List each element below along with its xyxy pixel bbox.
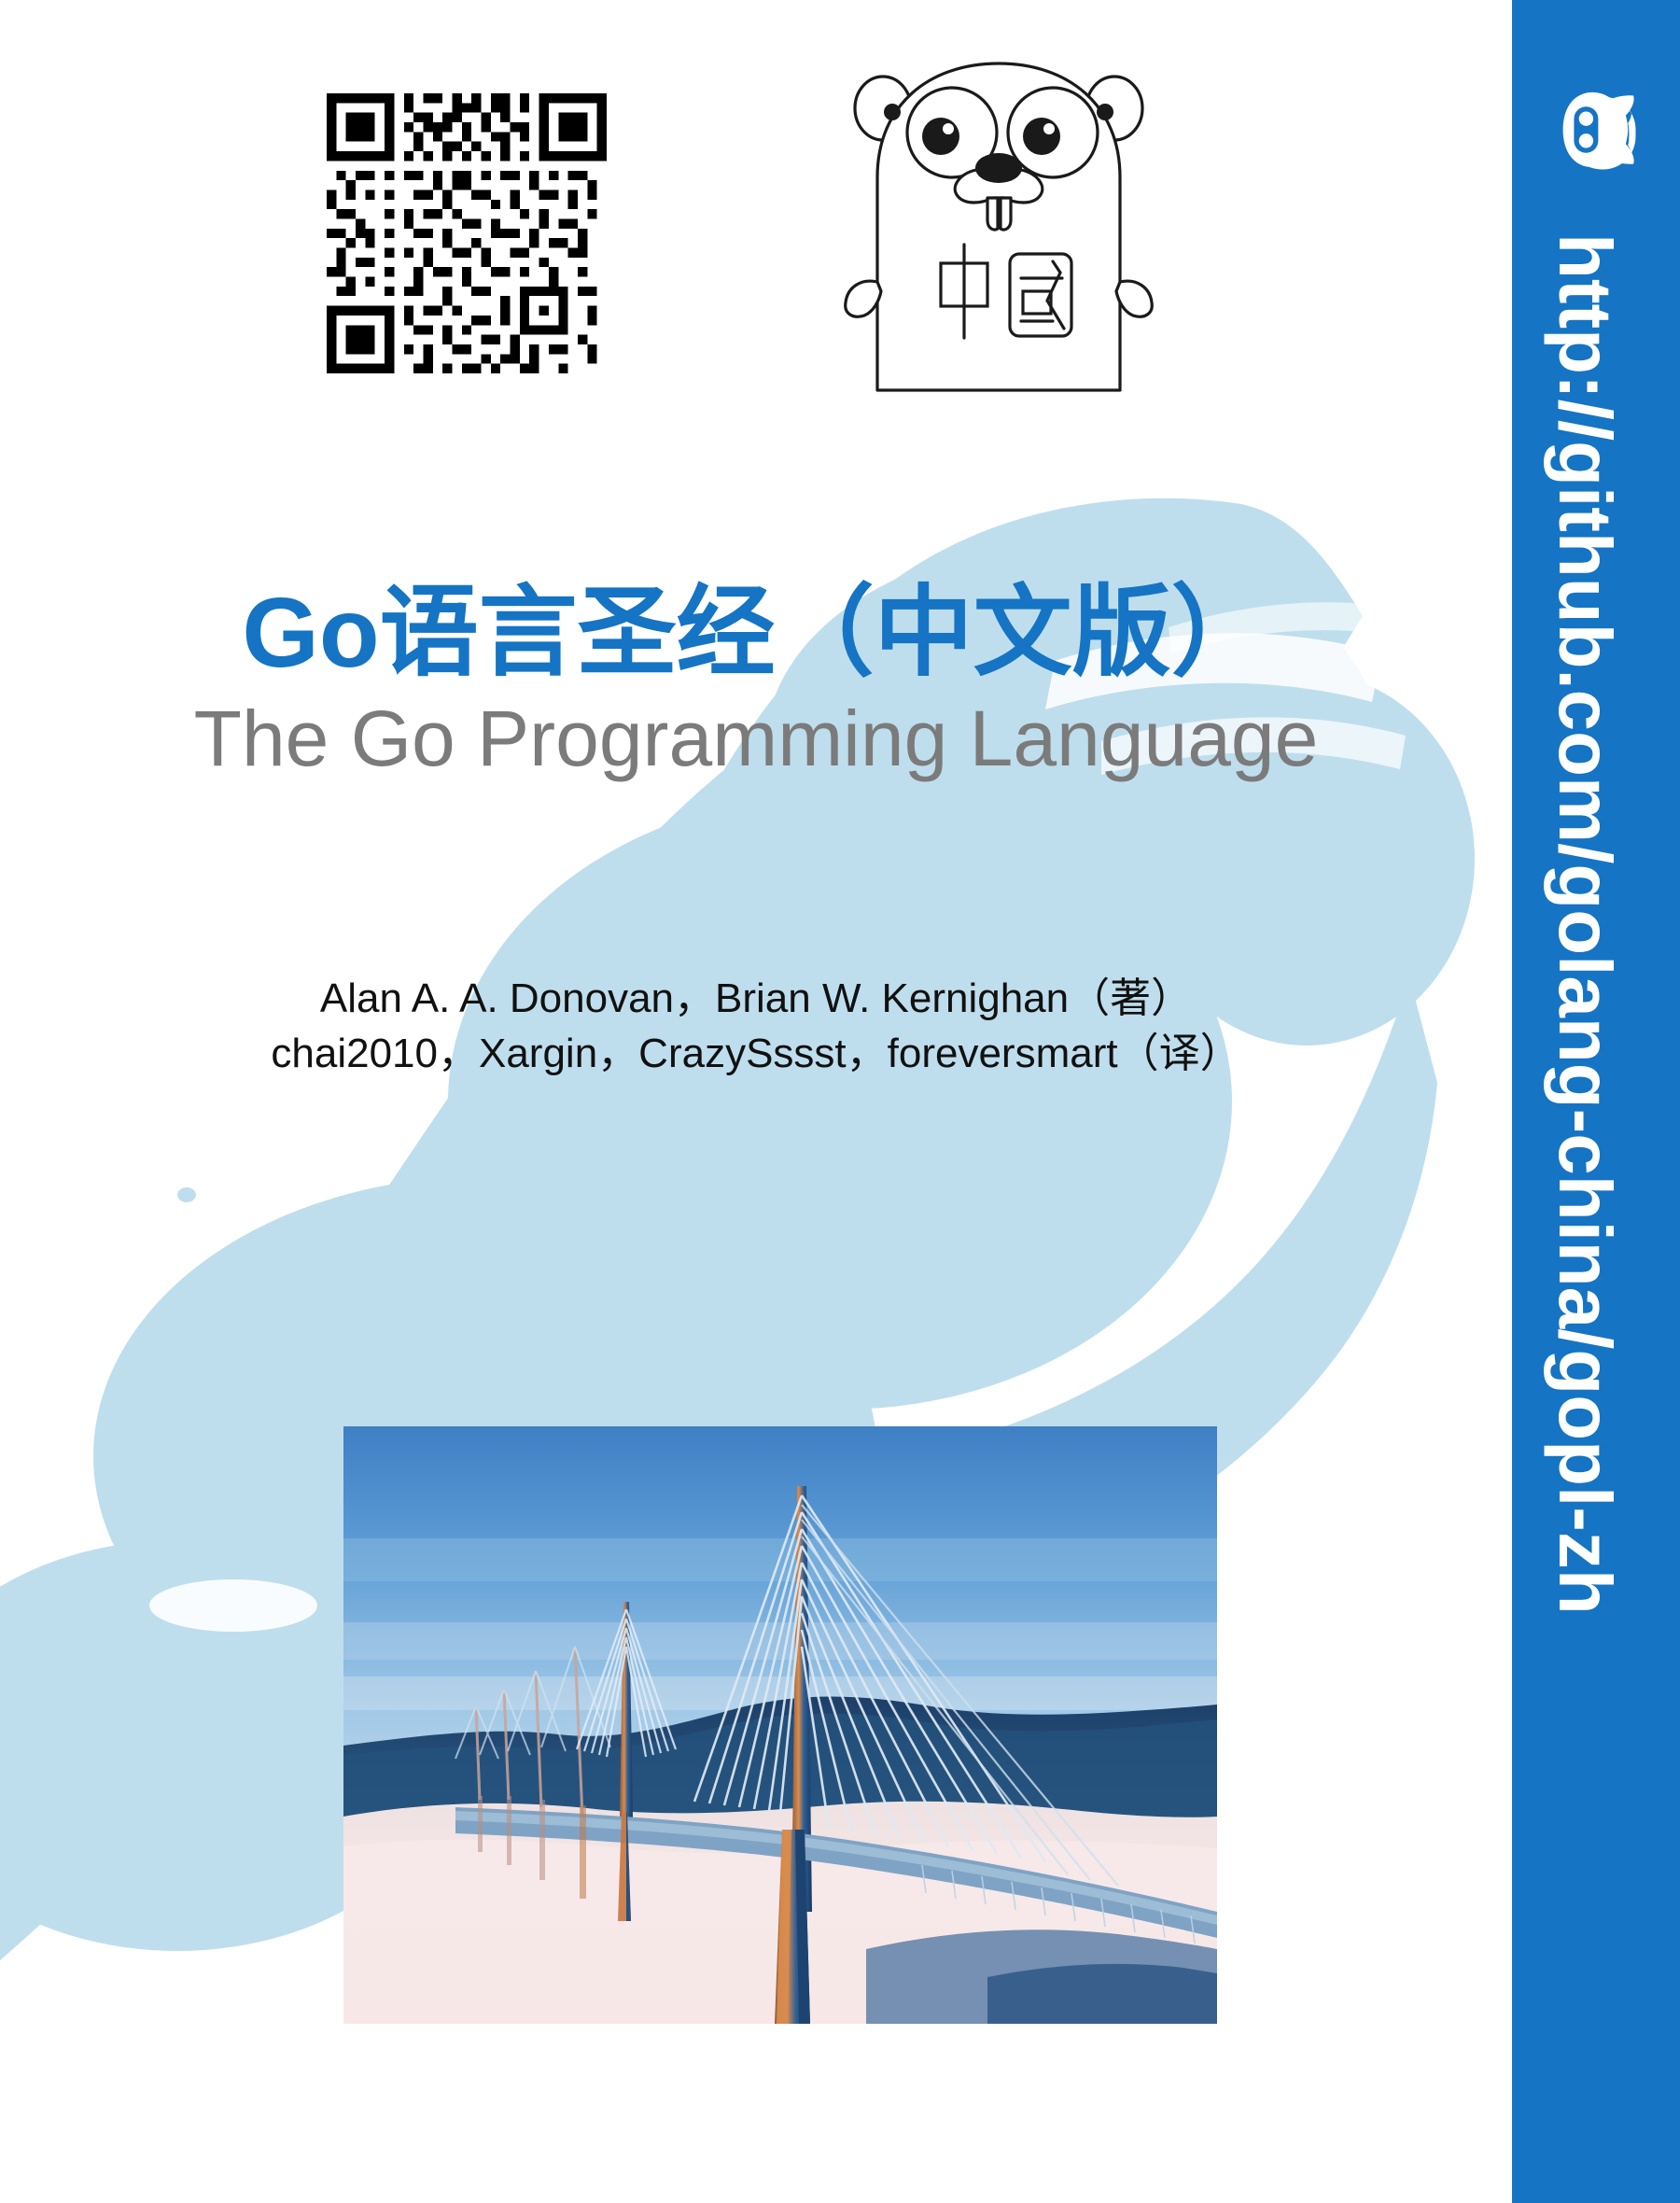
millau-viaduct-bridge-photo [343, 1426, 1217, 2024]
page-subtitle: The Go Programming Language [0, 694, 1512, 784]
qr-code[interactable] [327, 93, 607, 373]
credits-block: Alan A. A. Donovan，Brian W. Kernighan（著）… [0, 971, 1512, 1082]
page-title: Go语言圣经（中文版） [0, 579, 1512, 688]
authors-line: Alan A. A. Donovan，Brian W. Kernighan（著） [0, 971, 1512, 1026]
title-block: Go语言圣经（中文版） The Go Programming Language [0, 579, 1512, 783]
book-cover: Go语言圣经（中文版） The Go Programming Language … [0, 0, 1680, 2203]
github-octocat-icon[interactable] [1541, 75, 1651, 185]
go-gopher-mascot [840, 37, 1157, 392]
github-url-link[interactable]: http://github.com/golang-china/gopl-zh [1547, 233, 1622, 1615]
github-sidebar: http://github.com/golang-china/gopl-zh [1512, 0, 1680, 2203]
translators-line: chai2010，Xargin，CrazySssst，foreversmart（… [0, 1026, 1512, 1081]
